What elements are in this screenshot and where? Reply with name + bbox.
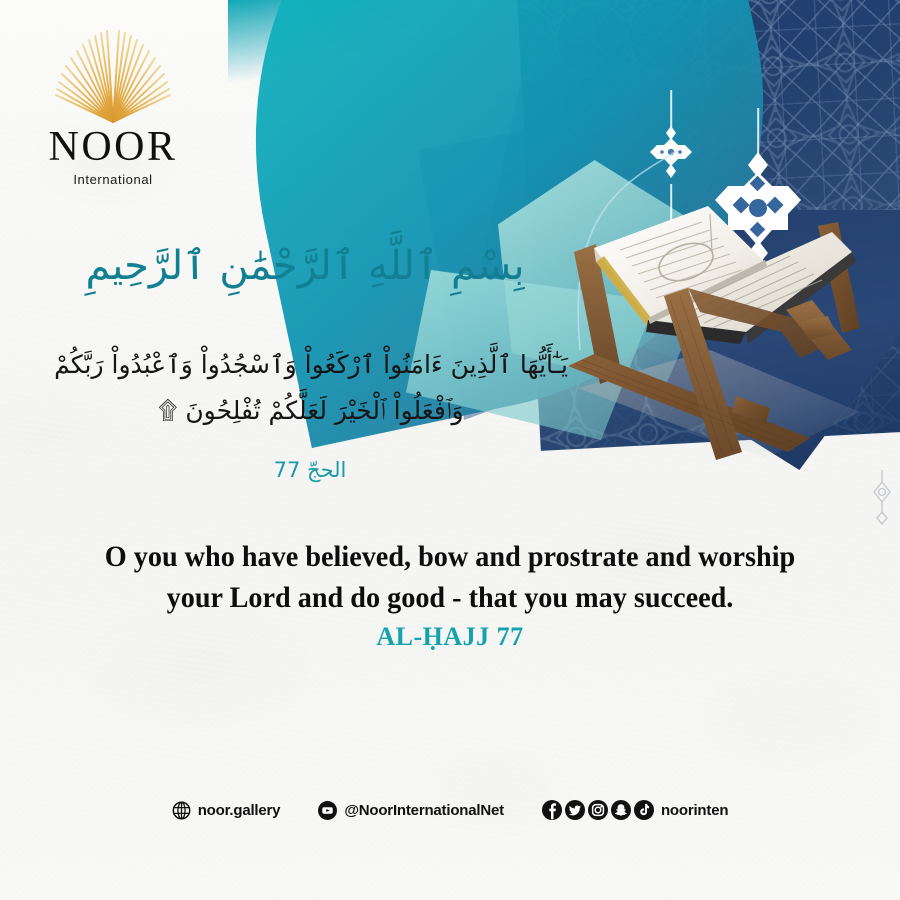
translation-line-2: your Lord and do good - that you may suc… bbox=[55, 577, 845, 618]
brand-subtitle: International bbox=[38, 172, 188, 187]
twitter-icon[interactable] bbox=[565, 800, 585, 820]
footer-social[interactable]: noorinten bbox=[542, 800, 728, 820]
globe-icon bbox=[172, 801, 191, 820]
footer-bar: noor.gallery @NoorInternationalNet bbox=[0, 800, 900, 820]
youtube-icon bbox=[318, 801, 337, 820]
sunburst-fan-icon bbox=[51, 28, 175, 124]
facebook-icon[interactable] bbox=[542, 800, 562, 820]
translation-line-1: O you who have believed, bow and prostra… bbox=[55, 536, 845, 577]
social-handle-label: noorinten bbox=[661, 802, 728, 819]
quran-verse-poster: NOOR International بِسْمِ ٱللَّهِ ٱلرَّح… bbox=[0, 0, 900, 900]
ayah-line-1: يَـٰٓأَيُّهَا ٱلَّذِينَ ءَامَنُواْ ٱرْكَ… bbox=[26, 342, 596, 388]
footer-website[interactable]: noor.gallery bbox=[172, 801, 281, 820]
ayah-line-2: وَٱفْعَلُواْ ٱلْخَيْرَ لَعَلَّكُمْ تُفْل… bbox=[26, 388, 596, 434]
instagram-icon[interactable] bbox=[588, 800, 608, 820]
surah-reference-english: AL-ḤAJJ 77 bbox=[30, 622, 870, 652]
wooden-rehal-with-open-quran-icon bbox=[560, 200, 900, 470]
basmala-text: بِسْمِ ٱللَّهِ ٱلرَّحْمَٰنِ ٱلرَّحِيمِ bbox=[0, 236, 610, 296]
footer-youtube[interactable]: @NoorInternationalNet bbox=[318, 801, 504, 820]
snapchat-icon[interactable] bbox=[611, 800, 631, 820]
edge-ornament-icon bbox=[868, 470, 898, 526]
noor-logo: NOOR International bbox=[38, 28, 188, 187]
surah-reference-arabic: الحجّ 77 bbox=[0, 458, 620, 482]
ayah-text: يَـٰٓأَيُّهَا ٱلَّذِينَ ءَامَنُواْ ٱرْكَ… bbox=[26, 342, 596, 435]
website-label: noor.gallery bbox=[198, 802, 281, 819]
brand-name: NOOR bbox=[38, 126, 188, 168]
tiktok-icon[interactable] bbox=[634, 800, 654, 820]
youtube-label: @NoorInternationalNet bbox=[344, 802, 504, 819]
social-icon-row bbox=[542, 800, 654, 820]
translation-text: O you who have believed, bow and prostra… bbox=[55, 536, 845, 619]
